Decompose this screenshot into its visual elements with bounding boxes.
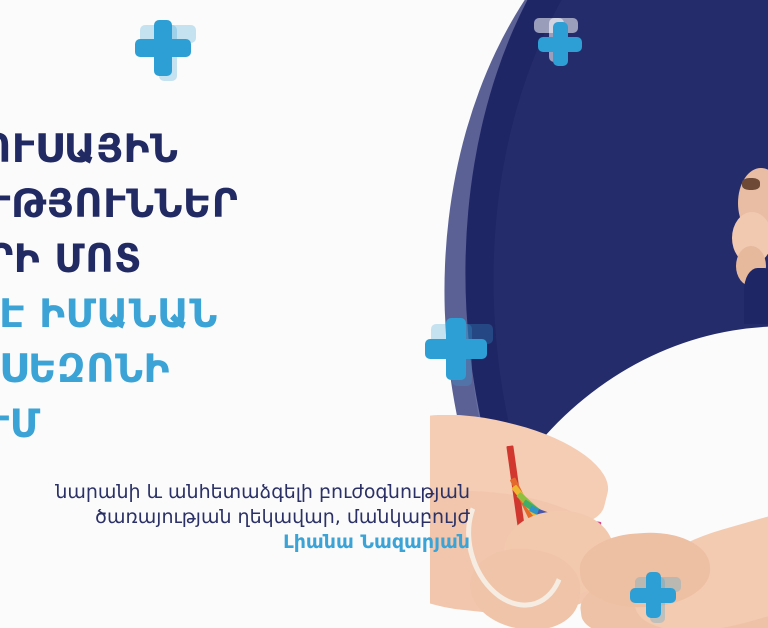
headline-line-4: ՅՔ Է ԻՄԱՆԱՆ [0,287,350,342]
medical-cross-top-right [538,22,582,66]
poster-canvas: ԻՐՈՒՍԱՅԻՆ ԴՈՒԹՅՈՒՆՆԵՐ ՆԵՐԻ ՄՈՏ ՅՔ Է ԻՄԱՆ… [0,0,768,628]
subtitle-line-2: ծառայության ղեկավար, մանկաբույժ [0,505,470,530]
headline-line-5: ՐԸ ՍԵԶՈՆԻ [0,342,350,397]
headline-line-6: ՔՈՒՄ [0,397,350,452]
medical-cross-bottom [630,572,676,618]
subtitle-line-1: նարանի և անհետաձգելի բուժօգնության [0,480,470,505]
photo-hands-with-colored-pencils [430,415,768,628]
speaker-name: Լիանա Նազարյան [0,530,470,555]
medical-cross-top-left [135,20,191,76]
headline-block: ԻՐՈՒՍԱՅԻՆ ԴՈՒԹՅՈՒՆՆԵՐ ՆԵՐԻ ՄՈՏ ՅՔ Է ԻՄԱՆ… [0,122,350,452]
headline-line-3: ՆԵՐԻ ՄՈՏ [0,232,350,287]
subtitle-block: նարանի և անհետաձգելի բուժօգնության ծառայ… [0,480,470,555]
partial-portrait-right-edge [736,168,768,318]
headline-line-1: ԻՐՈՒՍԱՅԻՆ [0,122,350,177]
headline-line-2: ԴՈՒԹՅՈՒՆՆԵՐ [0,177,350,232]
